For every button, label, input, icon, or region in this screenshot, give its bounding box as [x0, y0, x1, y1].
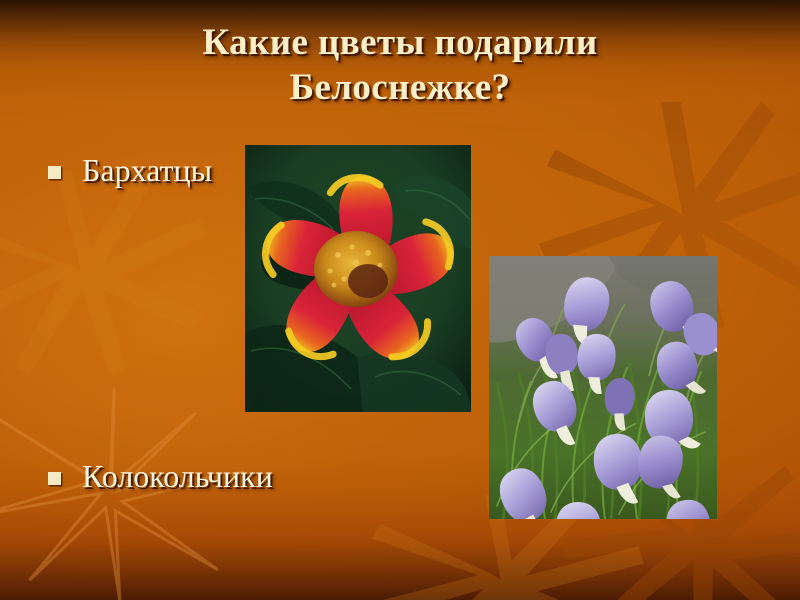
page-title: Какие цветы подарили Белоснежке?: [0, 20, 800, 110]
page-title-line-1: Какие цветы подарили: [0, 20, 800, 65]
list-item: Бархатцы: [48, 152, 212, 189]
square-bullet-icon: [48, 166, 61, 179]
list-item: Колокольчики: [48, 458, 273, 495]
slide-canvas: Какие цветы подарили Белоснежке? Бархатц…: [0, 0, 800, 600]
marigold-photo: [245, 145, 471, 412]
bluebell-photo: [489, 256, 717, 519]
list-item-label: Колокольчики: [82, 458, 273, 495]
page-title-line-2: Белоснежке?: [0, 65, 800, 110]
square-bullet-icon: [48, 472, 61, 485]
list-item-label: Бархатцы: [82, 152, 212, 189]
